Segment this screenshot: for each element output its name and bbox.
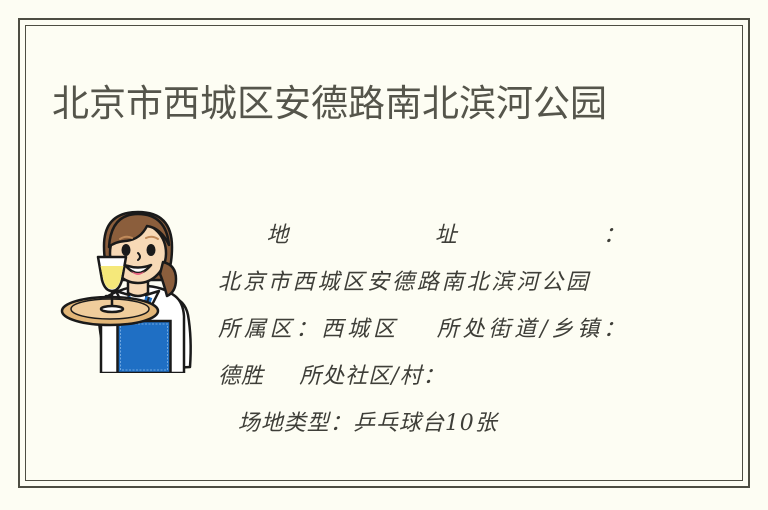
venue-details: 地址：北京市西城区安德路南北滨河公园所属区：西城区所处街道/乡镇：德胜所处社区/… (218, 212, 626, 447)
street-value: 德胜 (218, 364, 264, 389)
district-value: 西城区 (321, 317, 398, 342)
waitress-with-tray-icon (52, 198, 200, 373)
community-label: 所处社区/村： (299, 364, 445, 389)
venue-type-label: 场地类型： (238, 411, 353, 436)
street-label: 所处街道/乡镇： (434, 317, 626, 342)
address-label: 地址： (218, 223, 626, 248)
address-value: 北京市西城区安德路南北滨河公园 (218, 270, 591, 295)
page-title: 北京市西城区安德路南北滨河公园 (52, 77, 652, 130)
page-root: 北京市西城区安德路南北滨河公园 (0, 0, 768, 510)
venue-type-value: 乒乓球台10张 (353, 411, 498, 436)
venue-type-line: 场地类型：乒乓球台10张 (218, 400, 626, 447)
page-content: 北京市西城区安德路南北滨河公园 (0, 0, 768, 510)
district-label: 所属区： (218, 317, 321, 342)
